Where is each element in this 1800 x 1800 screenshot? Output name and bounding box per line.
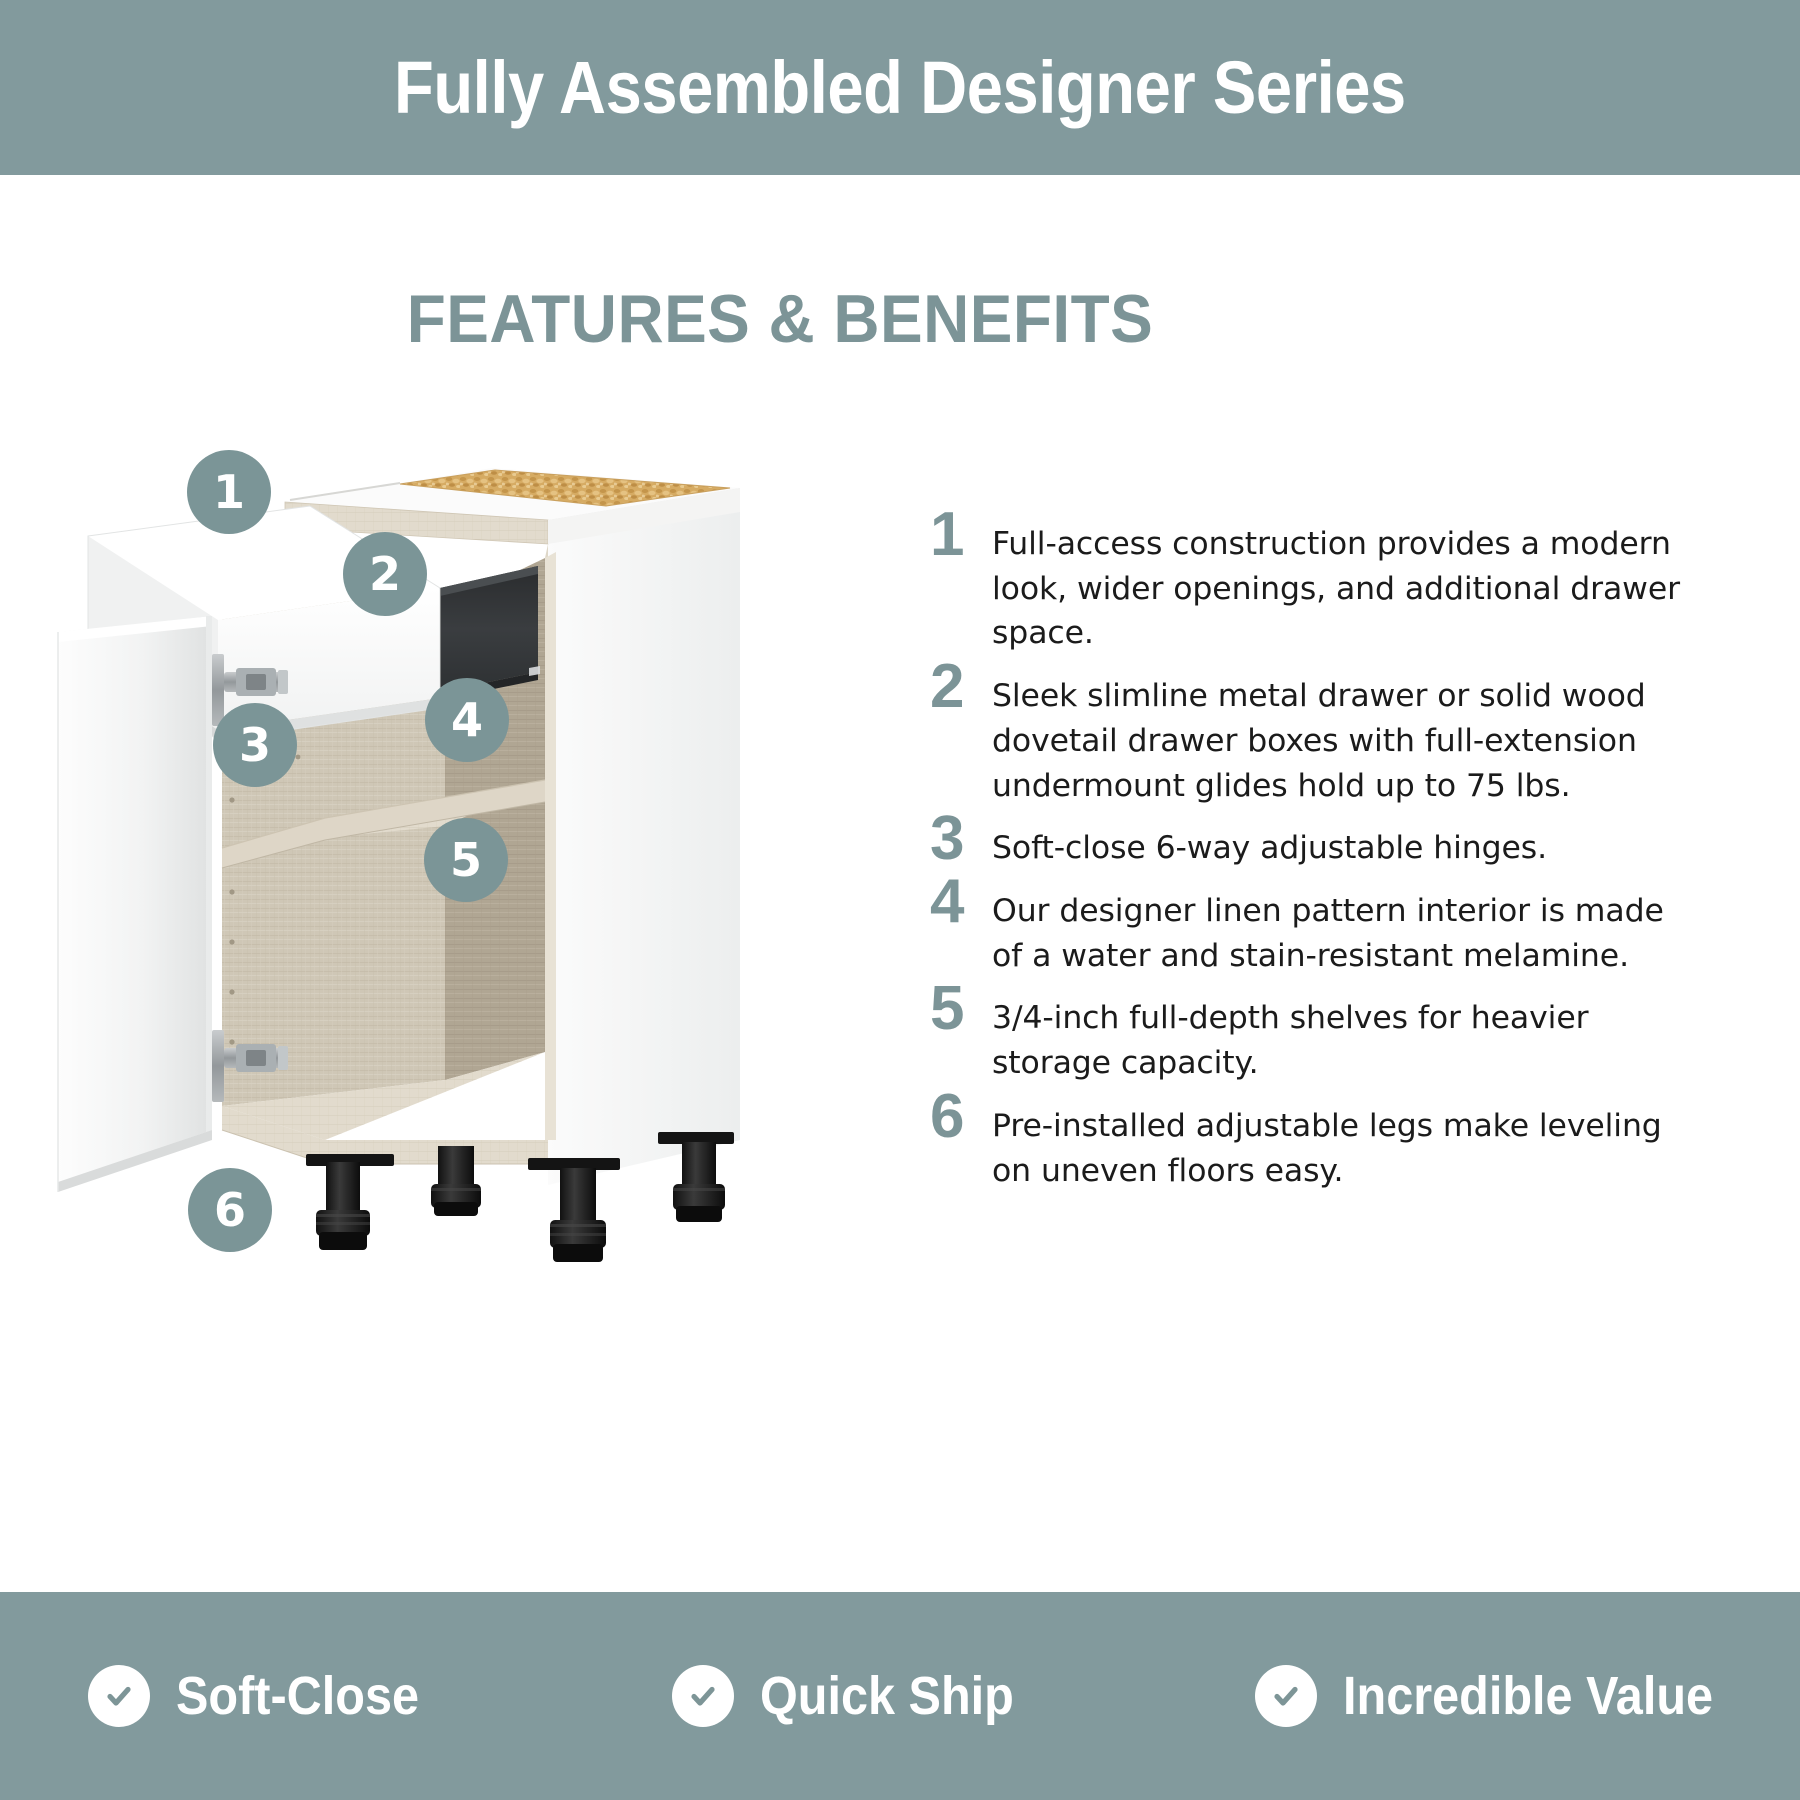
footer-feature-soft-close: Soft-Close: [88, 1665, 446, 1727]
section-title: FEATURES & BENEFITS: [47, 280, 1513, 358]
feature-text-4: Our designer linen pattern interior is m…: [992, 887, 1682, 978]
cabinet-carcass-front-edge: [545, 544, 556, 1140]
white-slab-door-open: [58, 616, 212, 1192]
callout-badge-1[interactable]: 1: [187, 450, 271, 534]
feature-item-4: 4 Our designer linen pattern interior is…: [930, 887, 1690, 978]
callout-badge-2[interactable]: 2: [343, 532, 427, 616]
feature-item-2: 2 Sleek slimline metal drawer or solid w…: [930, 672, 1690, 808]
feature-number-6: 6: [930, 1088, 992, 1145]
cabinet-right-side-panel: [548, 488, 740, 1185]
footer-label-incredible-value: Incredible Value: [1343, 1669, 1713, 1723]
callout-badge-4[interactable]: 4: [425, 678, 509, 762]
page-title: Fully Assembled Designer Series: [394, 51, 1406, 125]
footer-label-quick-ship: Quick Ship: [760, 1669, 1014, 1723]
feature-text-5: 3/4-inch full-depth shelves for heavier …: [992, 994, 1682, 1085]
adjustable-leg: [306, 1154, 394, 1250]
feature-number-1: 1: [930, 506, 992, 563]
feature-number-3: 3: [930, 810, 992, 867]
feature-item-6: 6 Pre-installed adjustable legs make lev…: [930, 1102, 1690, 1193]
footer-label-soft-close: Soft-Close: [176, 1669, 419, 1723]
footer-bar: Soft-Close Quick Ship Incredible Value: [0, 1592, 1800, 1800]
feature-number-2: 2: [930, 658, 992, 715]
callout-badge-6[interactable]: 6: [188, 1168, 272, 1252]
check-circle-icon: [1255, 1665, 1317, 1727]
check-circle-icon: [672, 1665, 734, 1727]
feature-text-2: Sleek slimline metal drawer or solid woo…: [992, 672, 1682, 808]
feature-text-1: Full-access construction provides a mode…: [992, 520, 1682, 656]
feature-number-5: 5: [930, 980, 992, 1037]
feature-text-6: Pre-installed adjustable legs make level…: [992, 1102, 1682, 1193]
check-circle-icon: [88, 1665, 150, 1727]
feature-item-3: 3 Soft-close 6-way adjustable hinges.: [930, 824, 1690, 871]
feature-item-1: 1 Full-access construction provides a mo…: [930, 520, 1690, 656]
feature-item-5: 5 3/4-inch full-depth shelves for heavie…: [930, 994, 1690, 1085]
feature-list: 1 Full-access construction provides a mo…: [930, 520, 1690, 1209]
callout-badge-3[interactable]: 3: [213, 703, 297, 787]
adjustable-leg: [528, 1158, 620, 1262]
footer-feature-quick-ship: Quick Ship: [672, 1665, 1042, 1727]
footer-feature-incredible-value: Incredible Value: [1255, 1665, 1754, 1727]
callout-badge-5[interactable]: 5: [424, 818, 508, 902]
feature-number-4: 4: [930, 873, 992, 930]
infographic-page: Fully Assembled Designer Series FEATURES…: [0, 0, 1800, 1800]
adjustable-leg: [431, 1146, 481, 1216]
feature-text-3: Soft-close 6-way adjustable hinges.: [992, 824, 1547, 871]
header-bar: Fully Assembled Designer Series: [0, 0, 1800, 175]
